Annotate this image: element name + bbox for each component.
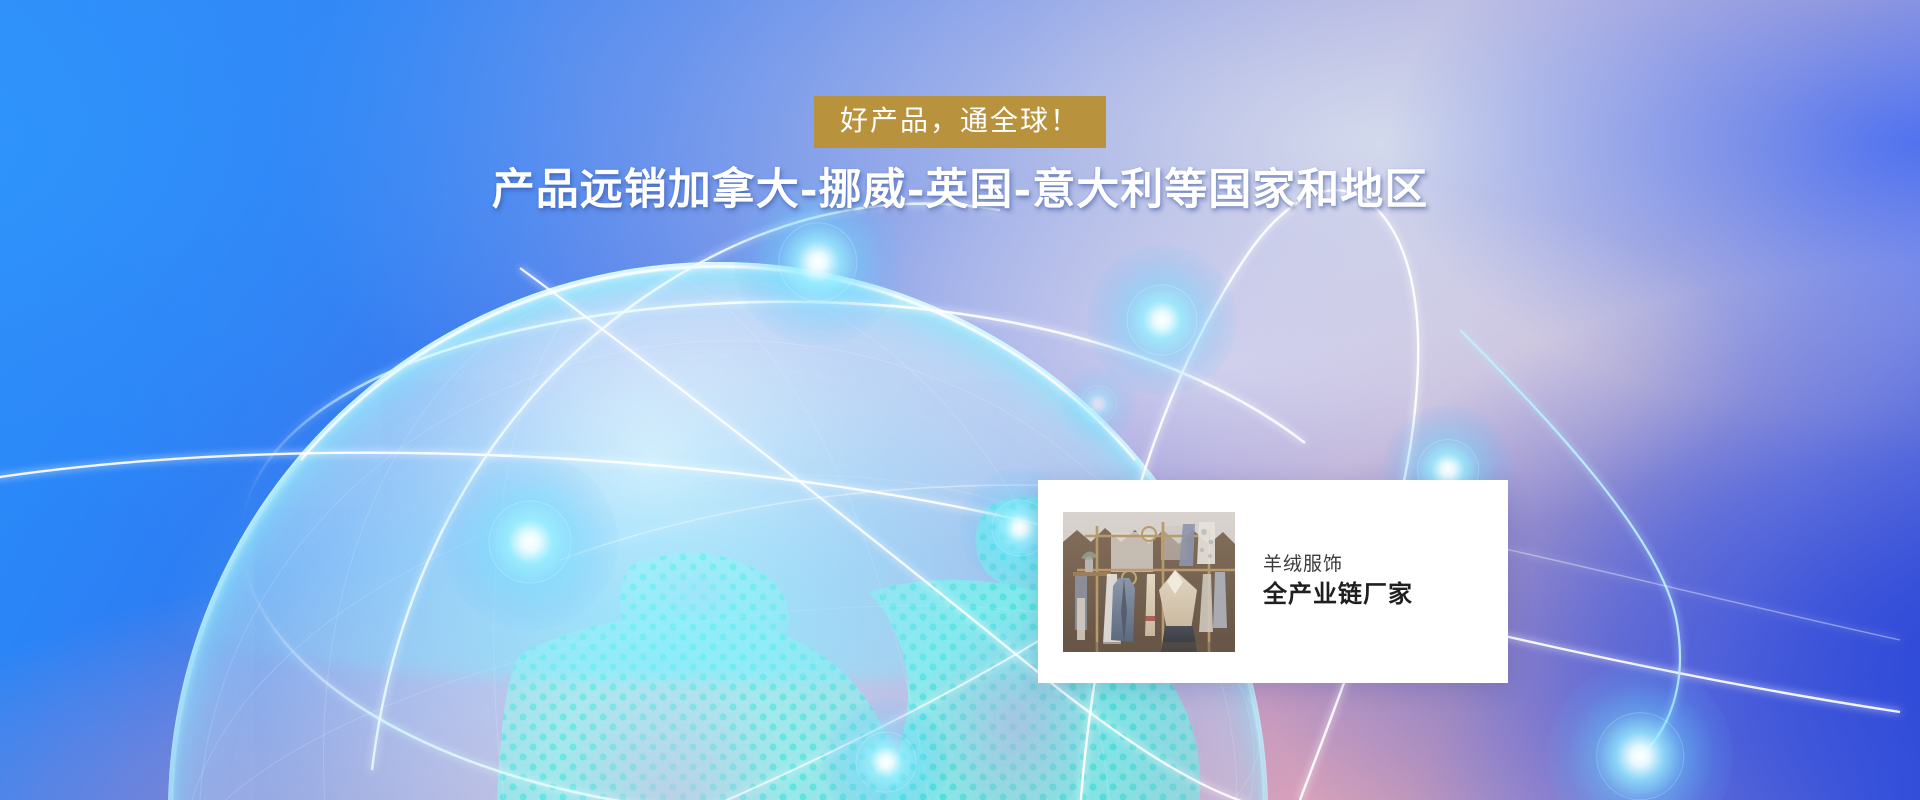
banner-hero: 好产品，通全球！ 产品远销加拿大-挪威-英国-意大利等国家和地区 [0, 0, 1920, 800]
product-photo [1063, 512, 1235, 652]
product-headline: 全产业链厂家 [1263, 579, 1413, 611]
product-card[interactable]: 羊绒服饰 全产业链厂家 [1038, 480, 1508, 683]
page-title: 产品远销加拿大-挪威-英国-意大利等国家和地区 [0, 164, 1920, 216]
headline-block: 好产品，通全球！ 产品远销加拿大-挪威-英国-意大利等国家和地区 [0, 96, 1920, 216]
product-card-text: 羊绒服饰 全产业链厂家 [1263, 552, 1413, 611]
product-category: 羊绒服饰 [1263, 552, 1413, 578]
tagline-badge: 好产品，通全球！ [814, 96, 1106, 148]
